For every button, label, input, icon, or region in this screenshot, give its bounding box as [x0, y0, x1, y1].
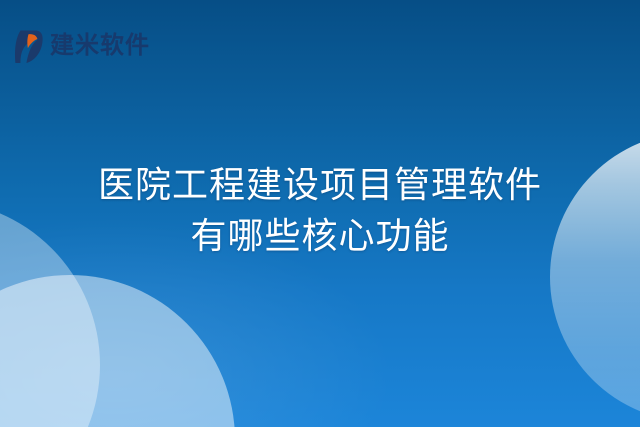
jianmi-logo-icon: [14, 29, 44, 64]
banner-canvas: 建米软件 医院工程建设项目管理软件 有哪些核心功能: [0, 0, 640, 427]
page-title-line-1: 医院工程建设项目管理软件: [0, 160, 640, 211]
brand-logo[interactable]: 建米软件: [14, 27, 150, 65]
page-title-line-2: 有哪些核心功能: [0, 211, 640, 262]
brand-name-label: 建米软件: [50, 34, 150, 58]
page-title: 医院工程建设项目管理软件 有哪些核心功能: [0, 160, 640, 262]
